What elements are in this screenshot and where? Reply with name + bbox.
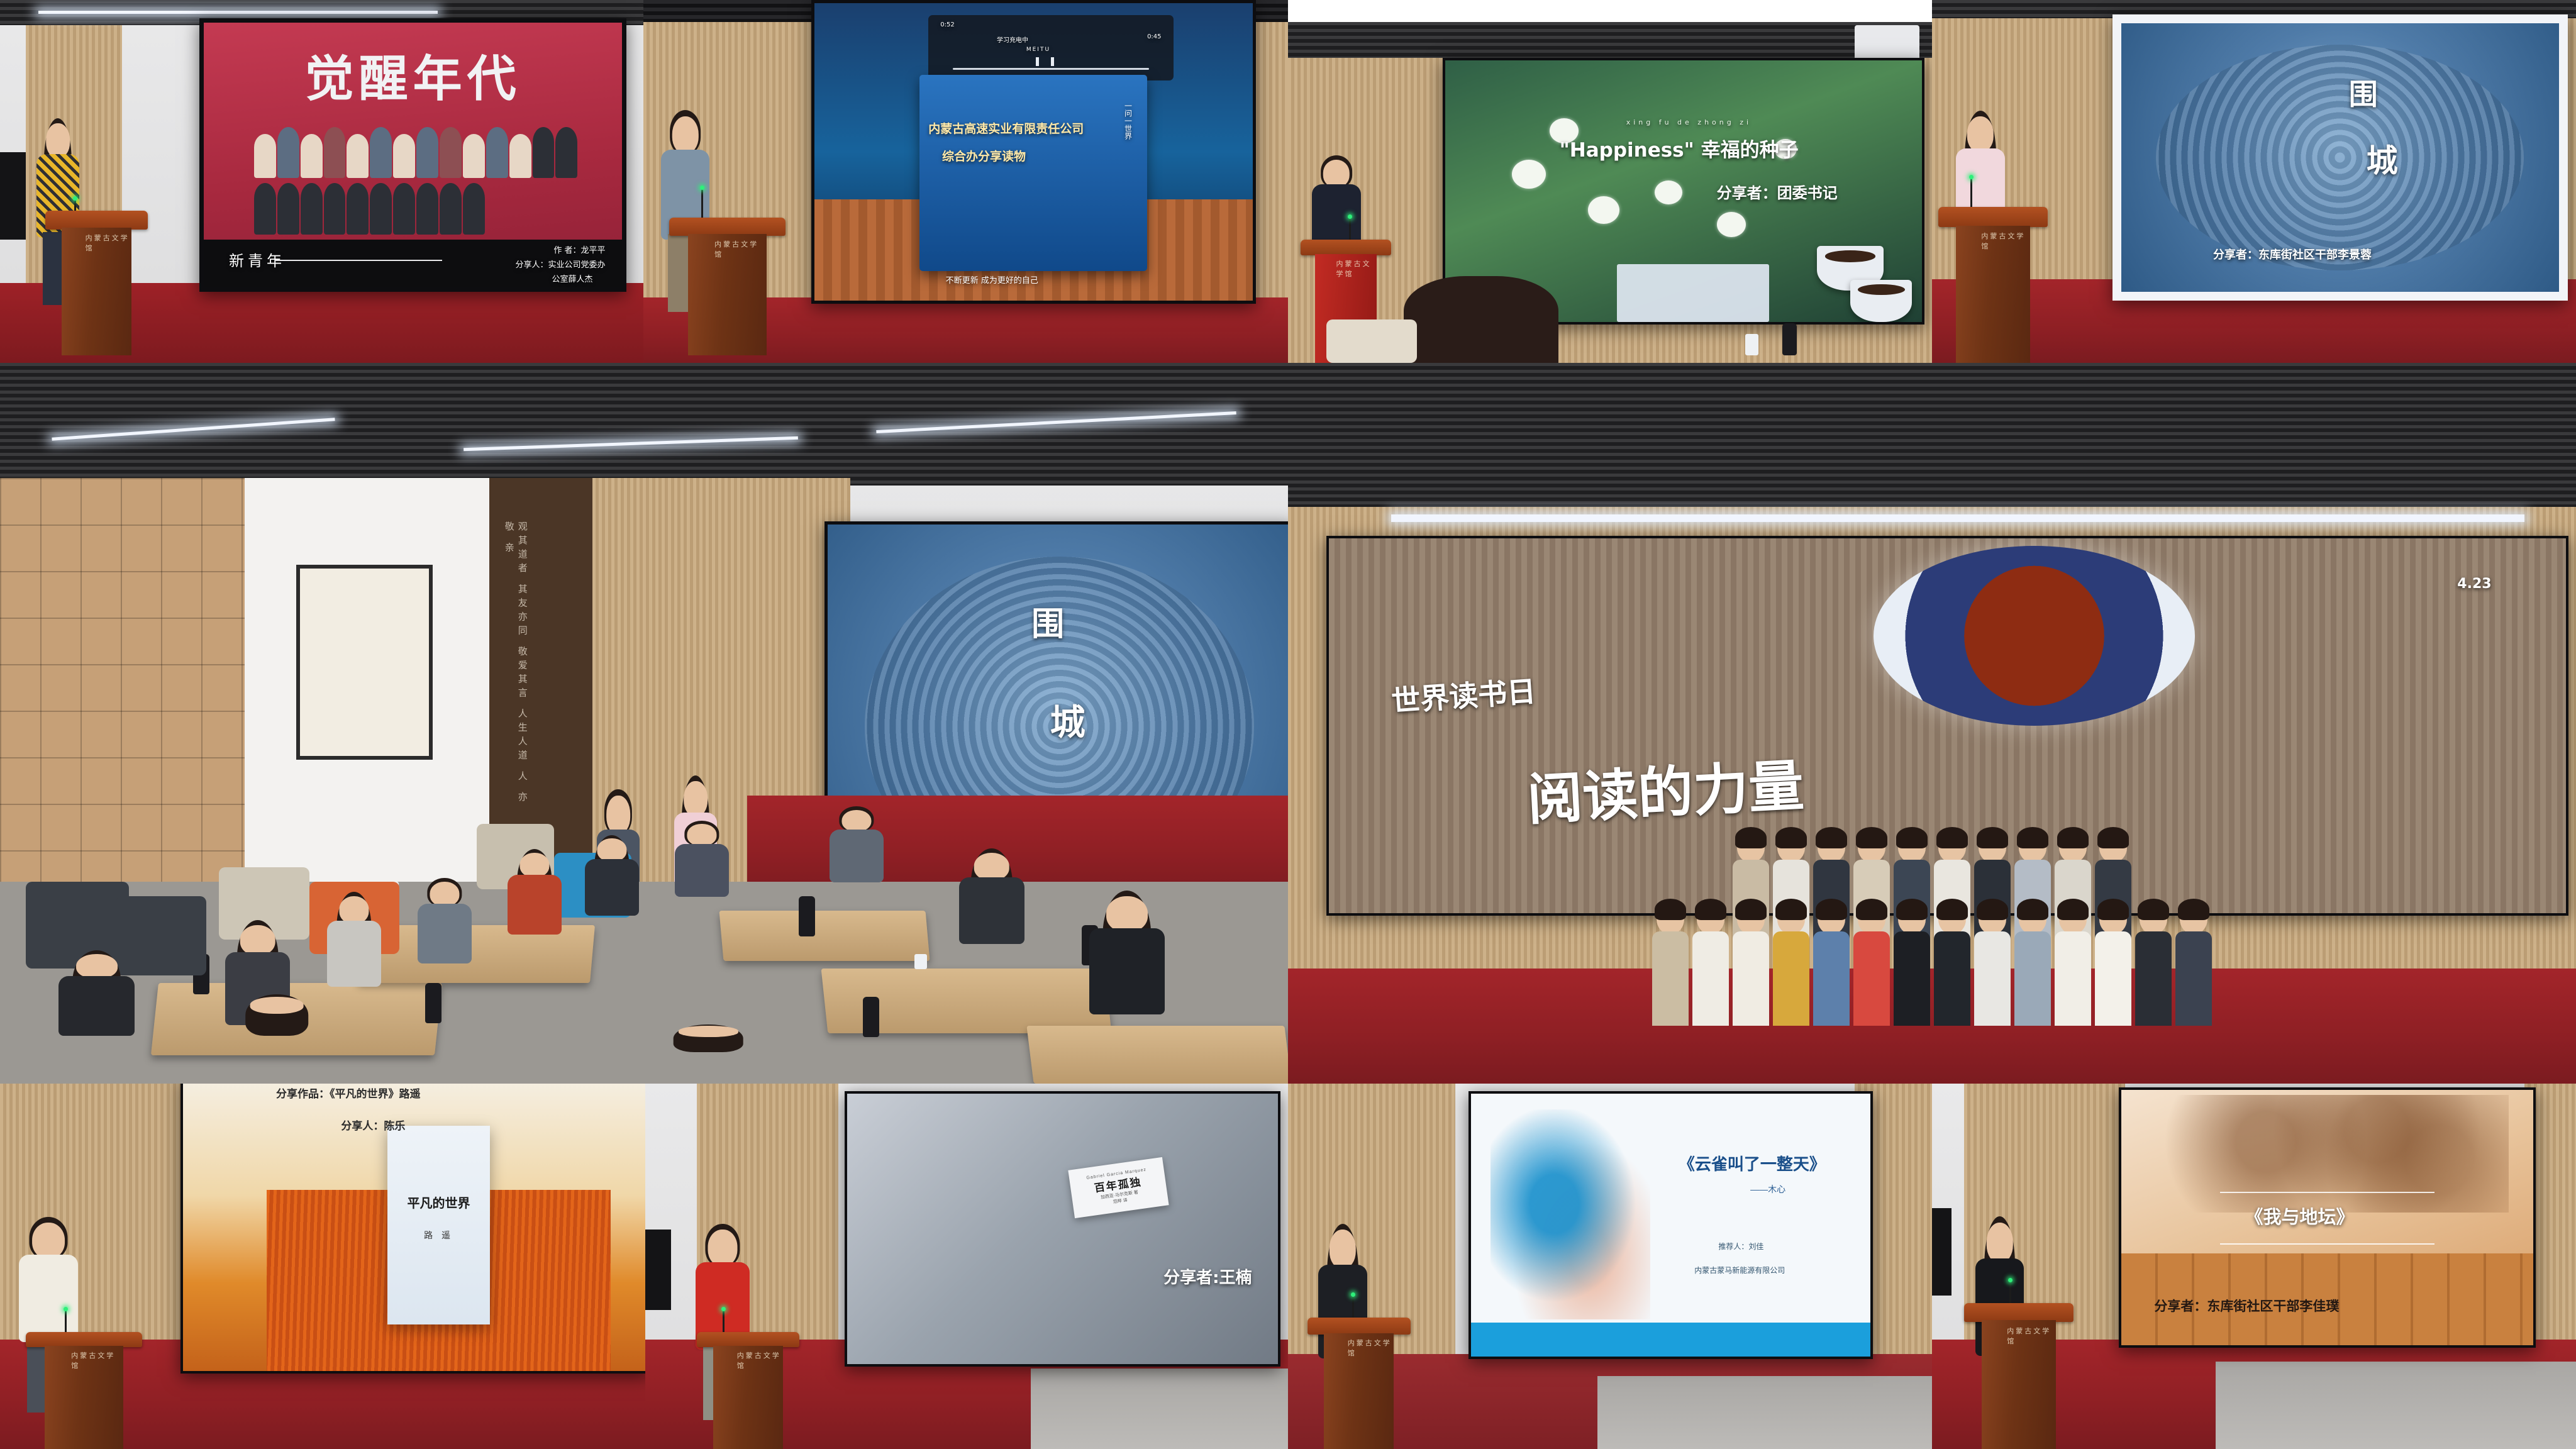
loudspeaker bbox=[1932, 1208, 1951, 1296]
book-title: 平凡的世界 bbox=[387, 1193, 490, 1211]
slide-title: "Happiness" 幸福的种子 bbox=[1560, 134, 1799, 162]
collage-row-bottom: 平凡的世界 路 遥 分享作品：《平凡的世界》路遥 分享人：陈乐 内蒙古文学馆 bbox=[0, 1084, 2576, 1449]
head bbox=[708, 1230, 737, 1265]
slide-footer-band: 新青年 作 者：龙平平 分享人：实业公司党委办 公室薛人杰 bbox=[204, 240, 622, 287]
pause-icon-bar2 bbox=[1051, 57, 1054, 66]
cushion bbox=[1326, 319, 1416, 363]
podium-top bbox=[669, 218, 786, 236]
top-white-strip bbox=[1288, 0, 1932, 22]
podium-body: 内蒙古文学馆 bbox=[1956, 226, 2030, 363]
slide-footer: 不断更新 成为更好的自己 bbox=[946, 274, 1038, 286]
projector-screen: 觉醒年代 新青年 作 者：龙平平 分享人：实业公司党委办 bbox=[199, 18, 626, 292]
head bbox=[974, 853, 1010, 880]
slide-rule-top bbox=[2220, 1192, 2434, 1193]
podium-top bbox=[1938, 207, 2048, 227]
head bbox=[597, 838, 626, 862]
slide-recommender: 推荐人：刘佳 bbox=[1718, 1241, 1763, 1252]
projector-screen: Gabriel Garcia Marquez 百年孤独 加西亚·马尔克斯 著 范… bbox=[845, 1091, 1280, 1367]
paper-cup bbox=[1745, 334, 1758, 356]
head bbox=[340, 896, 369, 924]
podium-engraving: 内蒙古文学馆 bbox=[2007, 1326, 2056, 1346]
audience-member bbox=[824, 810, 889, 925]
projector-screen: 《云雀叫了一整天》 ——木心 推荐人：刘佳 内蒙古蒙马新能源有限公司 bbox=[1468, 1091, 1873, 1359]
podium[interactable]: 内蒙古文学馆 bbox=[45, 211, 148, 356]
audience-member bbox=[219, 997, 335, 1084]
audience-member bbox=[580, 838, 644, 961]
audience-member bbox=[953, 853, 1031, 997]
head bbox=[687, 824, 717, 846]
slide-corner-note: 4.23 bbox=[2457, 576, 2491, 592]
slide-media-player: 0:52 0:45 学习充电中 MEITU bbox=[928, 15, 1174, 80]
slide-title-bottom: 城 bbox=[2367, 136, 2398, 181]
podium[interactable]: 内蒙古文学馆 bbox=[1964, 1303, 2074, 1449]
microphone bbox=[1970, 178, 1972, 207]
slide-sharer: 分享者：东库街社区干部李佳璞 bbox=[2154, 1296, 2339, 1315]
torso bbox=[58, 976, 134, 1036]
paper-cup bbox=[914, 954, 927, 969]
head bbox=[76, 954, 118, 979]
slide-teacup bbox=[1874, 546, 2195, 726]
torso bbox=[830, 830, 884, 882]
podium-engraving: 内蒙古文学馆 bbox=[86, 233, 131, 253]
slide-sharer-line2: 公室薛人杰 bbox=[552, 272, 593, 284]
slide-ring-pattern bbox=[2156, 45, 2524, 270]
slide-author: 作 者：龙平平 bbox=[553, 243, 605, 255]
slide-title: 《云雀叫了一整天》 bbox=[1679, 1152, 1826, 1175]
podium-top bbox=[1307, 1318, 1411, 1335]
projector-screen: 平凡的世界 路 遥 分享作品：《平凡的世界》路遥 分享人：陈乐 bbox=[180, 1084, 645, 1374]
slide-header: 分享作品：《平凡的世界》路遥 bbox=[276, 1085, 421, 1101]
head bbox=[1323, 160, 1350, 187]
podium-top bbox=[1964, 1303, 2074, 1322]
collage-row-top: 觉醒年代 新青年 作 者：龙平平 分享人：实业公司党委办 bbox=[0, 0, 2576, 363]
thermos-flask bbox=[1782, 323, 1797, 356]
slide-company: 内蒙古蒙马新能源有限公司 bbox=[1694, 1265, 1785, 1275]
head bbox=[240, 925, 275, 955]
head bbox=[679, 1026, 738, 1036]
podium-engraving: 内蒙古文学馆 bbox=[71, 1350, 123, 1370]
panel-bottom-4[interactable]: 《我与地坛》 分享者：东库街社区干部李佳璞 内蒙古文学馆 bbox=[1932, 1084, 2576, 1449]
slide-background: 平凡的世界 路 遥 分享作品：《平凡的世界》路遥 分享人：陈乐 bbox=[183, 1084, 645, 1371]
slide-title: 内蒙古高速实业有限责任公司 bbox=[928, 119, 1084, 136]
slide-sharer: 分享者:王楠 bbox=[1163, 1265, 1252, 1288]
ceiling bbox=[1288, 363, 2576, 507]
slide-open-book bbox=[1617, 264, 1769, 321]
panel-mid-left[interactable]: 观其道者 其友亦同 敬爱其言 人生人道 人 亦 敬 亲 围 城 分享者：东库街社… bbox=[0, 363, 1288, 1084]
slide-background: 《云雀叫了一整天》 ——木心 推荐人：刘佳 内蒙古蒙马新能源有限公司 bbox=[1471, 1094, 1870, 1357]
slide-book-cover: 平凡的世界 路 遥 bbox=[387, 1126, 490, 1324]
head bbox=[46, 123, 70, 158]
ceiling-light bbox=[1391, 514, 2524, 522]
audience-foreground-head bbox=[1404, 276, 1558, 363]
framed-artwork bbox=[296, 565, 433, 760]
podium-body: 内蒙古文学馆 bbox=[1324, 1333, 1394, 1449]
pause-icon[interactable] bbox=[1036, 57, 1039, 66]
head bbox=[684, 781, 708, 817]
head bbox=[250, 997, 304, 1013]
loudspeaker bbox=[0, 152, 26, 239]
head bbox=[606, 796, 630, 834]
panel-bottom-1[interactable]: 平凡的世界 路 遥 分享作品：《平凡的世界》路遥 分享人：陈乐 内蒙古文学馆 bbox=[0, 1084, 645, 1449]
slide-floral-illustration bbox=[1491, 1109, 1650, 1320]
audience-member bbox=[52, 954, 142, 1084]
thermos-flask bbox=[799, 896, 815, 936]
torso bbox=[327, 921, 381, 987]
slide-title-bottom: 城 bbox=[1050, 694, 1085, 745]
head bbox=[672, 116, 698, 153]
slide-book-label: Gabriel Garcia Marquez 百年孤独 加西亚·马尔克斯 著 范… bbox=[1068, 1157, 1169, 1219]
torso bbox=[19, 1255, 79, 1342]
audience-member bbox=[644, 1026, 773, 1084]
ceiling bbox=[1288, 22, 1932, 58]
podium-body: 内蒙古文学馆 bbox=[45, 1346, 124, 1449]
head bbox=[1967, 116, 1994, 152]
slide-background: 觉醒年代 新青年 作 者：龙平平 分享人：实业公司党委办 bbox=[204, 23, 622, 287]
panel-top-3[interactable]: xing fu de zhong zi "Happiness" 幸福的种子 分享… bbox=[1288, 0, 1932, 363]
torso bbox=[675, 844, 729, 897]
wall-calligraphy: 观其道者 其友亦同 敬爱其言 人生人道 人 亦 敬 亲 bbox=[502, 521, 529, 824]
group-photo-front-row bbox=[1288, 810, 2576, 1026]
floor bbox=[1031, 1368, 1288, 1449]
slide-side-text: 一问一世界 bbox=[1123, 102, 1134, 140]
podium[interactable]: 内蒙古文学馆 bbox=[1307, 1318, 1411, 1449]
head bbox=[841, 810, 871, 832]
player-time-right: 0:45 bbox=[1147, 33, 1161, 40]
torso bbox=[1089, 928, 1165, 1014]
podium[interactable]: 内蒙古文学馆 bbox=[697, 1332, 800, 1449]
torso bbox=[508, 875, 562, 935]
slide-rule-bottom bbox=[2220, 1243, 2434, 1245]
slide-coffee-cup-2 bbox=[1850, 280, 1913, 321]
panel-top-4[interactable]: 围 城 分享者：东库街社区干部李景蓉 内蒙古文学馆 bbox=[1932, 0, 2576, 363]
slide-pinyin: xing fu de zhong zi bbox=[1626, 118, 1752, 126]
projector-screen: 围 城 分享者：东库街社区干部李景蓉 bbox=[2112, 14, 2568, 301]
slide-book-card: 内蒙古高速实业有限责任公司 综合办分享读物 一问一世界 bbox=[919, 75, 1147, 271]
slide-title: 觉醒年代 bbox=[229, 54, 597, 118]
slide-sharer: 分享者：团委书记 bbox=[1717, 180, 1838, 203]
slide-subtitle: 综合办分享读物 bbox=[942, 147, 1026, 164]
slide-background: 围 城 分享者：东库街社区干部李景蓉 bbox=[2121, 23, 2559, 292]
torso bbox=[585, 859, 639, 916]
podium-top bbox=[26, 1332, 142, 1347]
slide-title: 《我与地坛》 bbox=[2245, 1202, 2355, 1229]
book-author: 路 遥 bbox=[387, 1229, 490, 1241]
photo-collage: 觉醒年代 新青年 作 者：龙平平 分享人：实业公司党委办 bbox=[0, 0, 2576, 1449]
thermos-flask bbox=[863, 997, 879, 1037]
podium-top bbox=[1301, 240, 1391, 256]
podium-engraving: 内蒙古文学馆 bbox=[714, 239, 767, 259]
audience-member bbox=[1082, 896, 1172, 1084]
player-time-left: 0:52 bbox=[940, 21, 954, 28]
podium[interactable]: 内蒙古文学馆 bbox=[26, 1332, 142, 1449]
torso bbox=[418, 904, 472, 963]
slide-background: Gabriel Garcia Marquez 百年孤独 加西亚·马尔克斯 著 范… bbox=[847, 1094, 1278, 1364]
head bbox=[32, 1223, 65, 1258]
volume-slider[interactable] bbox=[953, 68, 1149, 70]
panel-top-1[interactable]: 觉醒年代 新青年 作 者：龙平平 分享人：实业公司党委办 bbox=[0, 0, 643, 363]
podium-top bbox=[45, 211, 148, 230]
torso bbox=[959, 877, 1024, 943]
podium-engraving: 内蒙古文学馆 bbox=[1981, 231, 2030, 251]
podium-engraving: 内蒙古文学馆 bbox=[1348, 1338, 1394, 1358]
player-brand: MEITU bbox=[1026, 47, 1050, 53]
slide-sharer: 分享人：陈乐 bbox=[341, 1117, 405, 1133]
panel-bottom-3[interactable]: 《云雀叫了一整天》 ——木心 推荐人：刘佳 内蒙古蒙马新能源有限公司 内蒙古文学… bbox=[1288, 1084, 1932, 1449]
panel-bottom-2[interactable]: Gabriel Garcia Marquez 百年孤独 加西亚·马尔克斯 著 范… bbox=[645, 1084, 1288, 1449]
player-track-title: 学习充电中 bbox=[997, 35, 1028, 44]
audience-member bbox=[412, 882, 476, 1011]
slide-background: 0:52 0:45 学习充电中 MEITU 内蒙古高速实业有限责任公司 综合办分… bbox=[814, 3, 1253, 301]
head bbox=[1986, 1223, 2012, 1263]
ceiling-light bbox=[38, 11, 437, 14]
head bbox=[430, 882, 459, 906]
slide-illustration-crowd bbox=[254, 123, 597, 235]
podium-body: 内蒙古文学馆 bbox=[688, 234, 767, 355]
loudspeaker bbox=[645, 1230, 671, 1310]
audience-member bbox=[670, 824, 734, 939]
head bbox=[1106, 896, 1148, 932]
slide-title: 世界读书日 bbox=[1390, 669, 1537, 720]
floor bbox=[1597, 1376, 1932, 1449]
slide-title-top: 围 bbox=[1031, 597, 1064, 645]
head bbox=[519, 853, 549, 877]
slide-background: 《我与地坛》 分享者：东库街社区干部李佳璞 bbox=[2121, 1090, 2533, 1346]
podium-engraving: 内蒙古文学馆 bbox=[737, 1350, 783, 1370]
projector-screen: 0:52 0:45 学习充电中 MEITU 内蒙古高速实业有限责任公司 综合办分… bbox=[811, 0, 1256, 304]
slide-author: ——木心 bbox=[1750, 1183, 1785, 1196]
panel-mid-right[interactable]: 世界读书日 阅读的力量 4.23 bbox=[1288, 363, 2576, 1084]
podium-top bbox=[697, 1332, 800, 1347]
slide-tree-canopy bbox=[2162, 1095, 2509, 1213]
panel-top-2[interactable]: 0:52 0:45 学习充电中 MEITU 内蒙古高速实业有限责任公司 综合办分… bbox=[643, 0, 1288, 363]
ceiling bbox=[0, 363, 1288, 486]
floor bbox=[2216, 1362, 2576, 1449]
podium-engraving: 内蒙古文学馆 bbox=[1336, 258, 1377, 279]
podium[interactable]: 内蒙古文学馆 bbox=[669, 218, 786, 355]
slide-sharer: 分享人：实业公司党委办 bbox=[515, 258, 605, 270]
collage-row-middle: 观其道者 其友亦同 敬爱其言 人生人道 人 亦 敬 亲 围 城 分享者：东库街社… bbox=[0, 363, 2576, 1084]
projector-screen: 《我与地坛》 分享者：东库街社区干部李佳璞 bbox=[2119, 1087, 2536, 1348]
audience-member bbox=[502, 853, 567, 982]
head bbox=[1330, 1230, 1356, 1269]
slide-title-top: 围 bbox=[2349, 72, 2378, 113]
podium-body: 内蒙古文学馆 bbox=[1982, 1320, 2056, 1449]
slide-blue-band bbox=[1471, 1323, 1870, 1357]
podium[interactable]: 内蒙古文学馆 bbox=[1938, 207, 2048, 363]
podium-body: 内蒙古文学馆 bbox=[713, 1346, 783, 1449]
slide-rule bbox=[275, 260, 442, 261]
slide-sharer: 分享者：东库街社区干部李景蓉 bbox=[2213, 246, 2372, 262]
podium-body: 内蒙古文学馆 bbox=[62, 228, 131, 355]
